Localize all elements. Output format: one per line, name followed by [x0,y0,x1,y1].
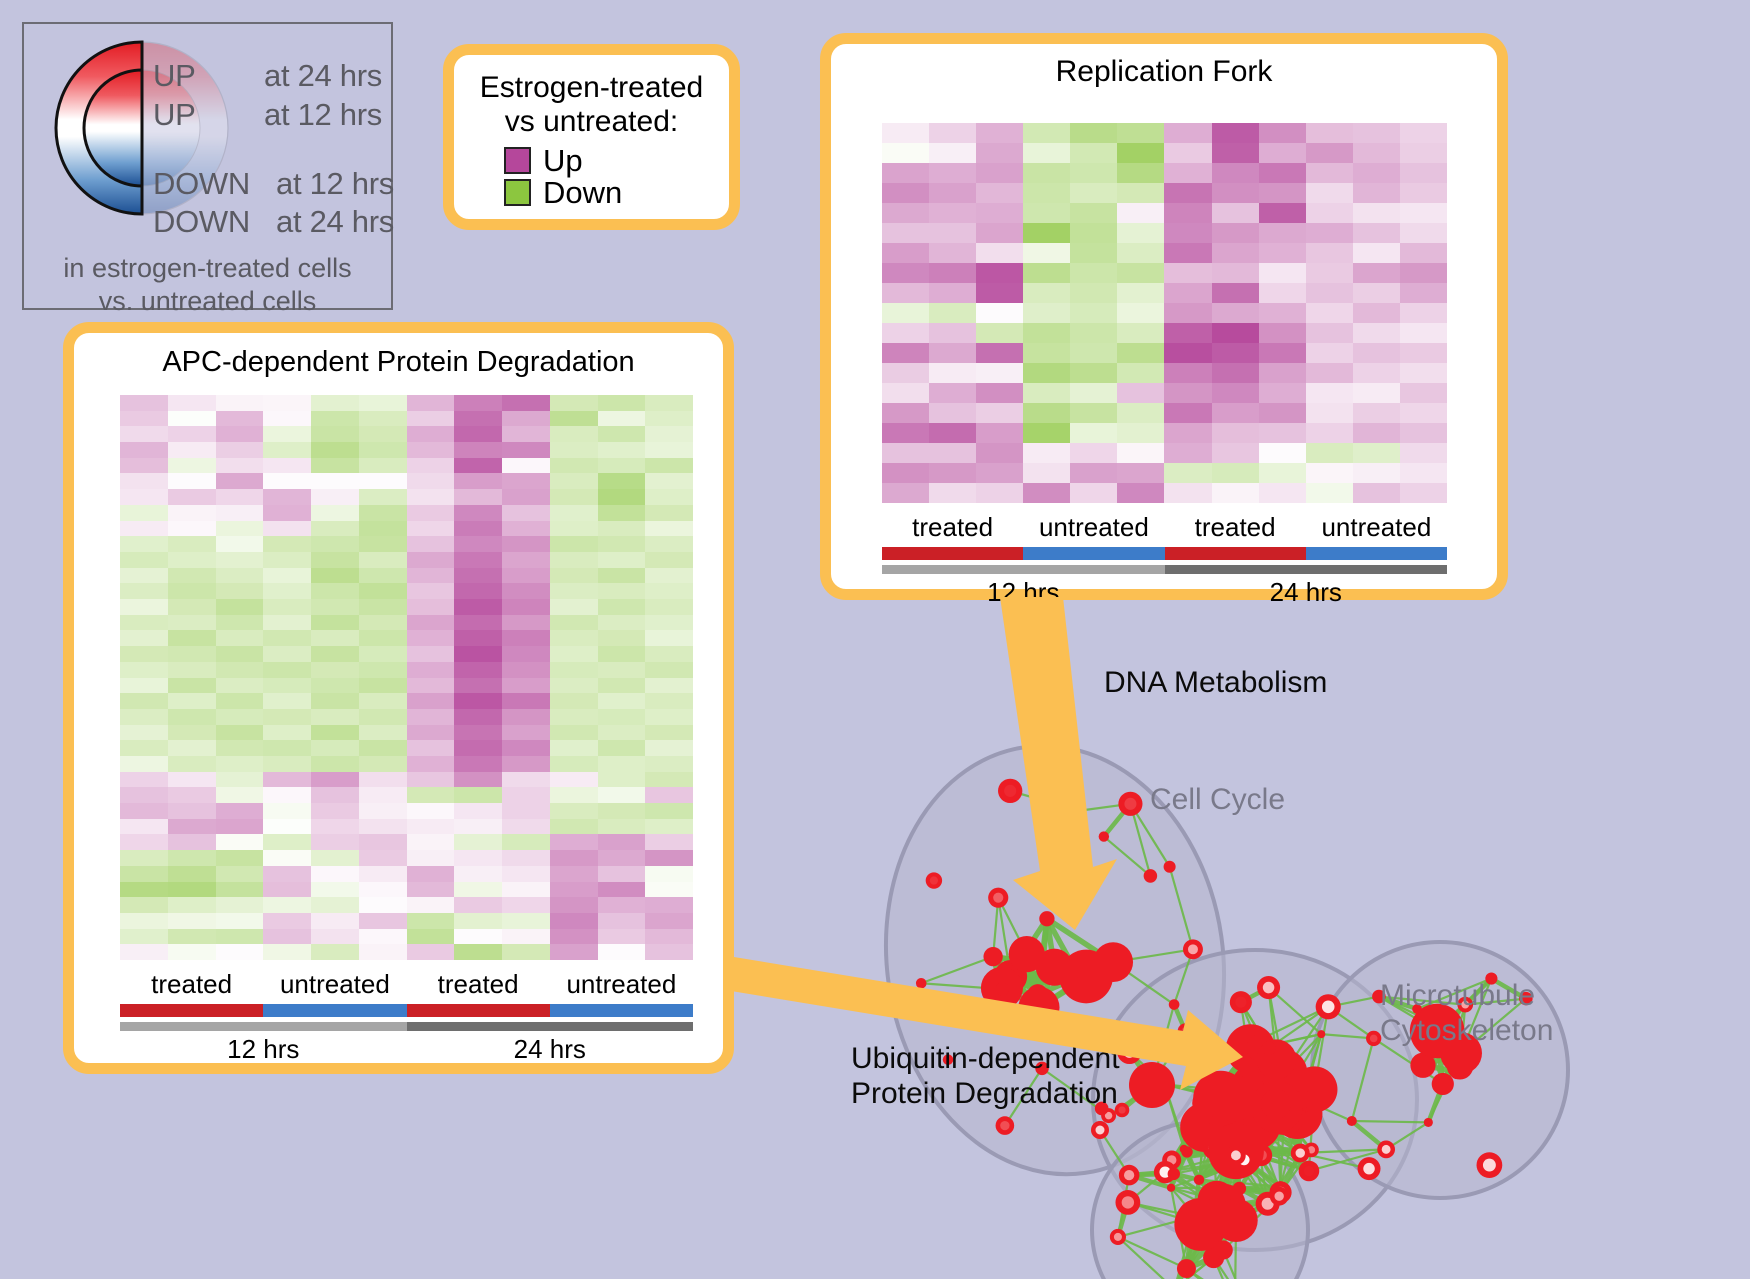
heatmap-cell [263,583,311,599]
heatmap-cell [120,944,168,960]
heatmap-cell [598,489,646,505]
heatmap-cell [311,819,359,835]
heatmap-cell [598,411,646,427]
heatmap-cell [1164,343,1211,363]
network-node[interactable] [916,978,927,989]
heatmap-cell [1306,283,1353,303]
heatmap-cell [1117,283,1164,303]
heatmap-cell [882,323,929,343]
heatmap-cell [976,283,1023,303]
heatmap-cell [1353,283,1400,303]
heatmap-cell [454,834,502,850]
heatmap-cell [976,223,1023,243]
heatmap-cell [1259,443,1306,463]
heatmap-cell [120,709,168,725]
heatmap-cell [359,458,407,474]
apc-time-names: 12 hrs 24 hrs [120,1034,693,1065]
heatmap-cell [1164,203,1211,223]
heatmap-cell [1400,163,1447,183]
heatmap-cell [645,615,693,631]
heatmap-cell [168,411,216,427]
heatmap-cell [407,709,455,725]
network-node-core [1124,798,1136,810]
heatmap-cell [550,819,598,835]
network-node[interactable] [1211,1075,1258,1122]
heatmap-cell [407,678,455,694]
heatmap-cell [550,630,598,646]
heatmap-cell [598,803,646,819]
heatmap-cell [359,426,407,442]
heatmap-cell [168,552,216,568]
heatmap-cell [454,599,502,615]
heatmap-cell [454,615,502,631]
heatmap-cell [407,740,455,756]
network-node-core [1263,982,1275,994]
heatmap-cell [598,944,646,960]
network-node[interactable] [1432,1073,1454,1095]
heatmap-cell [645,740,693,756]
network-node-core [1296,1148,1305,1157]
heatmap-cell [976,163,1023,183]
heatmap-cell [1400,223,1447,243]
heatmap-cell [1306,403,1353,423]
heatmap-cell [1400,423,1447,443]
heatmap-cell [1212,383,1259,403]
heatmap-cell [929,223,976,243]
cluster-label-microtubule-line2: Cytoskeleton [1380,1013,1553,1048]
heatmap-cell [645,897,693,913]
heatmap-cell [311,803,359,819]
heatmap-cell [976,363,1023,383]
heatmap-cell [502,630,550,646]
heatmap-cell [550,882,598,898]
heatmap-cell [1212,403,1259,423]
heatmap-cell [598,866,646,882]
heatmap-cell [645,929,693,945]
heatmap-cell [1353,483,1400,503]
network-node[interactable] [1169,999,1180,1010]
heatmap-cell [645,693,693,709]
heatmap-cell [976,323,1023,343]
replication-fork-panel: Replication Fork treated untreated treat… [820,33,1508,600]
heatmap-cell [1306,463,1353,483]
network-node[interactable] [1180,1145,1189,1154]
wheel-label-up-12: UP [153,97,195,133]
network-node-core [1382,1145,1391,1154]
network-node[interactable] [1262,1041,1276,1055]
heatmap-cell [1117,123,1164,143]
heatmap-cell [598,929,646,945]
time-bar-24hrs [1165,565,1448,574]
pathway-network-graph [800,630,1750,1279]
heatmap-cell [502,521,550,537]
heatmap-cell [502,646,550,662]
network-node[interactable] [1099,831,1109,841]
heatmap-cell [1070,203,1117,223]
heatmap-cell [311,662,359,678]
heatmap-cell [502,897,550,913]
heatmap-cell [120,536,168,552]
heatmap-cell [1070,383,1117,403]
heatmap-cell [645,725,693,741]
heatmap-cell [502,772,550,788]
heatmap-cell [645,568,693,584]
heatmap-cell [120,897,168,913]
heatmap-cell [1023,383,1070,403]
network-node-core [1096,1126,1105,1135]
heatmap-cell [168,725,216,741]
heatmap-cell [359,897,407,913]
apc-degradation-title: APC-dependent Protein Degradation [74,333,723,379]
apc-sample-annotation: treated untreated treated untreated 12 h… [120,971,693,1065]
heatmap-cell [120,787,168,803]
heatmap-cell [1164,243,1211,263]
heatmap-cell [1306,323,1353,343]
heatmap-cell [1164,303,1211,323]
heatmap-cell [976,383,1023,403]
network-node[interactable] [1317,1030,1325,1038]
heatmap-cell [1117,163,1164,183]
heatmap-cell [1164,223,1211,243]
estrogen-legend-title: Estrogen-treated vs untreated: [454,71,729,138]
sample-group-label: treated [882,514,1023,541]
heatmap-cell [1306,483,1353,503]
heatmap-cell [550,442,598,458]
up-color-swatch [504,147,531,174]
heatmap-cell [120,583,168,599]
heatmap-cell [929,283,976,303]
heatmap-cell [1353,263,1400,283]
heatmap-cell [311,630,359,646]
heatmap-cell [598,913,646,929]
heatmap-cell [454,772,502,788]
estrogen-legend-items: Up Down [454,145,729,208]
network-node[interactable] [1027,984,1048,1005]
heatmap-cell [311,473,359,489]
heatmap-cell [311,395,359,411]
heatmap-cell [882,303,929,323]
heatmap-cell [359,803,407,819]
heatmap-cell [263,646,311,662]
heatmap-cell [502,787,550,803]
heatmap-cell [598,709,646,725]
heatmap-cell [120,929,168,945]
heatmap-cell [311,709,359,725]
heatmap-cell [550,411,598,427]
heatmap-cell [311,834,359,850]
heatmap-cell [263,834,311,850]
heatmap-cell [454,897,502,913]
heatmap-cell [168,505,216,521]
heatmap-cell [929,183,976,203]
heatmap-cell [311,882,359,898]
heatmap-cell [263,740,311,756]
heatmap-cell [216,583,264,599]
network-node[interactable] [1194,1175,1204,1185]
heatmap-cell [1117,443,1164,463]
heatmap-cell [598,426,646,442]
heatmap-cell [263,897,311,913]
heatmap-cell [502,725,550,741]
heatmap-cell [882,423,929,443]
heatmap-cell [929,423,976,443]
heatmap-cell [359,662,407,678]
heatmap-cell [359,489,407,505]
heatmap-cell [598,583,646,599]
heatmap-cell [1070,263,1117,283]
heatmap-cell [454,944,502,960]
heatmap-cell [359,568,407,584]
network-node[interactable] [1074,805,1085,816]
heatmap-cell [1164,363,1211,383]
heatmap-cell [1353,323,1400,343]
heatmap-cell [454,882,502,898]
legend-item-up: Up [504,145,729,176]
heatmap-cell [1023,363,1070,383]
heatmap-cell [263,772,311,788]
heatmap-cell [1117,463,1164,483]
heatmap-cell [454,395,502,411]
heatmap-cell [216,866,264,882]
heatmap-cell [263,568,311,584]
group-bar-untreated-24 [550,1004,693,1017]
heatmap-cell [1023,223,1070,243]
network-node[interactable] [996,982,1009,995]
network-node[interactable] [1039,911,1054,926]
heatmap-cell [407,913,455,929]
heatmap-cell [1259,423,1306,443]
heatmap-cell [550,599,598,615]
heatmap-cell [502,473,550,489]
heatmap-cell [216,693,264,709]
heatmap-cell [454,473,502,489]
heatmap-cell [550,458,598,474]
heatmap-cell [1212,143,1259,163]
network-node[interactable] [1294,1090,1312,1108]
heatmap-cell [263,929,311,945]
heatmap-cell [1117,323,1164,343]
heatmap-cell [407,489,455,505]
heatmap-cell [1212,243,1259,263]
heatmap-cell [550,473,598,489]
heatmap-cell [1259,223,1306,243]
heatmap-cell [502,850,550,866]
heatmap-cell [454,458,502,474]
network-node[interactable] [1144,869,1158,883]
wheel-time-up-24: at 24 hrs [264,58,382,94]
cluster-label-dna-metabolism: DNA Metabolism [1104,666,1327,700]
heatmap-cell [359,473,407,489]
heatmap-cell [645,756,693,772]
heatmap-cell [311,442,359,458]
heatmap-cell [550,787,598,803]
heatmap-cell [263,458,311,474]
heatmap-cell [1023,283,1070,303]
heatmap-cell [645,882,693,898]
heatmap-cell [263,395,311,411]
heatmap-cell [645,583,693,599]
heatmap-cell [502,866,550,882]
heatmap-cell [216,552,264,568]
heatmap-cell [645,787,693,803]
heatmap-cell [645,772,693,788]
heatmap-cell [1212,183,1259,203]
heatmap-cell [1070,163,1117,183]
heatmap-cell [1023,463,1070,483]
heatmap-cell [120,662,168,678]
heatmap-cell [216,646,264,662]
heatmap-cell [359,395,407,411]
heatmap-cell [1306,303,1353,323]
heatmap-cell [976,443,1023,463]
heatmap-cell [1400,203,1447,223]
heatmap-cell [502,536,550,552]
heatmap-cell [1164,423,1211,443]
heatmap-cell [120,819,168,835]
heatmap-cell [120,803,168,819]
network-node[interactable] [1167,1184,1175,1192]
network-node[interactable] [1214,1199,1257,1242]
heatmap-cell [645,395,693,411]
time-bar-12hrs [120,1022,407,1031]
group-bar-treated-12 [882,547,1023,560]
heatmap-cell [1164,143,1211,163]
heatmap-cell [216,568,264,584]
heatmap-cell [1164,403,1211,423]
heatmap-cell [598,725,646,741]
heatmap-cell [216,630,264,646]
heatmap-cell [598,756,646,772]
heatmap-cell [550,489,598,505]
heatmap-cell [216,709,264,725]
heatmap-cell [1400,343,1447,363]
heatmap-cell [645,630,693,646]
heatmap-cell [120,772,168,788]
heatmap-cell [1306,343,1353,363]
heatmap-cell [454,850,502,866]
sample-group-label: treated [120,971,263,998]
replication-fork-group-bars [882,547,1447,560]
heatmap-cell [263,725,311,741]
heatmap-cell [454,426,502,442]
heatmap-cell [1259,183,1306,203]
heatmap-cell [216,740,264,756]
heatmap-cell [1023,183,1070,203]
heatmap-cell [407,646,455,662]
heatmap-cell [454,552,502,568]
heatmap-cell [645,599,693,615]
heatmap-cell [359,850,407,866]
network-node[interactable] [983,947,1002,966]
heatmap-cell [976,183,1023,203]
group-bar-untreated-12 [1023,547,1164,560]
heatmap-cell [359,599,407,615]
heatmap-cell [1400,483,1447,503]
heatmap-cell [1353,423,1400,443]
time-label-24hrs: 24 hrs [407,1034,694,1065]
heatmap-cell [120,756,168,772]
heatmap-cell [120,678,168,694]
heatmap-cell [1353,183,1400,203]
heatmap-cell [1164,123,1211,143]
heatmap-cell [1259,283,1306,303]
network-node[interactable] [1164,861,1176,873]
heatmap-cell [1400,183,1447,203]
heatmap-cell [645,521,693,537]
heatmap-cell [502,929,550,945]
heatmap-cell [407,615,455,631]
heatmap-cell [407,505,455,521]
network-node[interactable] [1036,949,1073,986]
wheel-label-down-12: DOWN [153,166,250,202]
heatmap-cell [216,913,264,929]
heatmap-cell [263,473,311,489]
heatmap-cell [598,395,646,411]
network-node[interactable] [1424,1118,1433,1127]
heatmap-cell [168,678,216,694]
network-node[interactable] [1261,1089,1291,1119]
heatmap-cell [598,552,646,568]
heatmap-cell [1212,163,1259,183]
heatmap-cell [1117,383,1164,403]
heatmap-cell [1164,163,1211,183]
network-node[interactable] [1347,1116,1357,1126]
network-node[interactable] [1214,1240,1233,1259]
heatmap-cell [407,630,455,646]
heatmap-cell [216,772,264,788]
heatmap-cell [645,458,693,474]
heatmap-cell [359,442,407,458]
heatmap-cell [168,395,216,411]
heatmap-cell [454,803,502,819]
group-bar-treated-24 [1165,547,1306,560]
heatmap-cell [311,897,359,913]
heatmap-cell [976,463,1023,483]
heatmap-cell [216,411,264,427]
heatmap-cell [598,819,646,835]
time-label-12hrs: 12 hrs [120,1034,407,1065]
heatmap-cell [1212,223,1259,243]
heatmap-cell [1070,463,1117,483]
heatmap-cell [502,442,550,458]
heatmap-cell [168,897,216,913]
heatmap-cell [502,599,550,615]
replication-fork-sample-names: treated untreated treated untreated [882,514,1447,541]
heatmap-cell [359,646,407,662]
heatmap-cell [168,442,216,458]
heatmap-cell [1023,163,1070,183]
heatmap-cell [976,243,1023,263]
heatmap-cell [1164,443,1211,463]
heatmap-cell [311,599,359,615]
heatmap-cell [550,678,598,694]
heatmap-cell [598,536,646,552]
time-label-24hrs: 24 hrs [1165,577,1448,608]
heatmap-cell [407,536,455,552]
sample-group-label: treated [1165,514,1306,541]
legend-item-down-label: Down [543,177,622,208]
heatmap-cell [407,803,455,819]
network-node[interactable] [1129,1062,1175,1108]
heatmap-cell [263,426,311,442]
heatmap-cell [550,913,598,929]
network-node[interactable] [1177,1259,1196,1278]
cluster-label-ubiquitin-line2: Protein Degradation [851,1076,1120,1111]
network-node-core [1123,1045,1135,1057]
network-node[interactable] [1168,1168,1180,1180]
heatmap-cell [502,583,550,599]
heatmap-cell [168,787,216,803]
